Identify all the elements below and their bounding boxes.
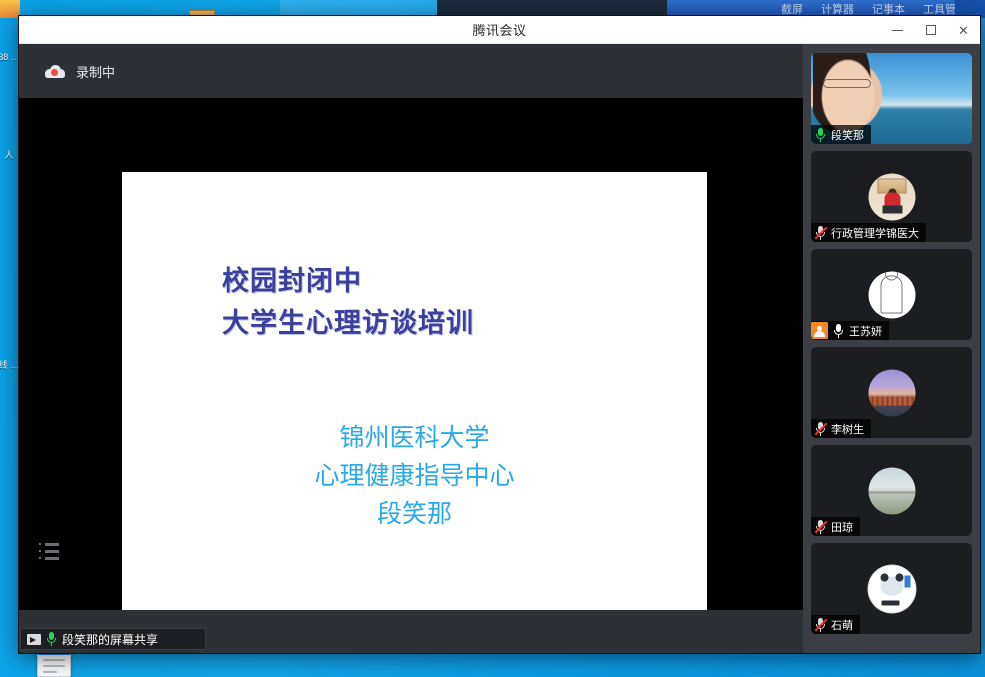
participant-tile-1[interactable]: 段笑那 [811, 53, 972, 144]
screen-share-status-bar[interactable]: 段笑那的屏幕共享 [20, 628, 206, 650]
participant-tile-2[interactable]: 行政管理学锦医大 [811, 151, 972, 242]
participant-badge-3: 王苏妍 [811, 321, 889, 340]
participant-avatar-3 [868, 271, 915, 318]
participant-badge-6: 石萌 [811, 615, 860, 634]
slide-subtitle-line-1: 锦州医科大学 [122, 420, 707, 458]
bg-toolbar-item-notepad[interactable]: 记事本 [872, 1, 905, 17]
minimize-icon [892, 30, 903, 31]
maximize-button[interactable] [914, 16, 947, 44]
participant-tile-3[interactable]: 王苏妍 [811, 249, 972, 340]
participant-name-3: 王苏妍 [849, 323, 882, 339]
participant-avatar-4 [868, 369, 915, 416]
cloud-record-icon [45, 65, 65, 78]
participant-badge-1: 段笑那 [811, 125, 871, 144]
participant-tile-6[interactable]: 石萌 [811, 543, 972, 634]
presentation-slide: 校园封闭中 大学生心理访谈培训 锦州医科大学 心理健康指导中心 段笑那 [122, 172, 707, 610]
window-body: 录制中 校园封闭中 大学生心理访谈培训 锦州医科大学 心理健康指导中心 段笑那 [19, 44, 980, 653]
window-titlebar[interactable]: 腾讯会议 ✕ [19, 16, 980, 44]
recording-status-label: 录制中 [76, 62, 115, 81]
mic-muted-icon [815, 422, 826, 436]
participant-badge-5: 田琼 [811, 517, 860, 536]
mic-muted-icon [815, 520, 826, 534]
maximize-icon [926, 25, 936, 35]
host-badge-icon [811, 322, 828, 339]
minimize-button[interactable] [881, 16, 914, 44]
participant-name-1: 段笑那 [831, 127, 864, 143]
desktop-icon-1-glyph [0, 0, 20, 18]
slide-title-line-1: 校园封闭中 [222, 260, 642, 302]
screen-share-label: 段笑那的屏幕共享 [62, 631, 158, 648]
taskbar-doc-line [43, 659, 65, 661]
participant-name-6: 石萌 [831, 617, 853, 633]
taskbar-doc-line [43, 671, 57, 673]
participant-tile-5[interactable]: 田琼 [811, 445, 972, 536]
meeting-window: 腾讯会议 ✕ 录制中 校园封闭中 [19, 16, 980, 653]
participant-name-4: 李树生 [831, 421, 864, 437]
mic-on-icon [833, 324, 844, 338]
participant-avatar-6 [868, 565, 915, 612]
taskbar-doc-line [43, 665, 65, 667]
slide-subtitle-line-3: 段笑那 [122, 496, 707, 534]
bg-toolbar-item-calculator[interactable]: 计算器 [821, 1, 854, 17]
slide-title: 校园封闭中 大学生心理访谈培训 [222, 260, 642, 344]
participant-avatar-5 [868, 467, 915, 514]
mic-muted-icon [815, 618, 826, 632]
participant-name-5: 田琼 [831, 519, 853, 535]
shared-screen-stage[interactable]: 校园封闭中 大学生心理访谈培训 锦州医科大学 心理健康指导中心 段笑那 [19, 98, 803, 610]
taskbar-document-window[interactable] [37, 651, 71, 677]
participants-panel[interactable]: 段笑那 行政管理学锦医大 [803, 44, 980, 653]
list-icon[interactable] [35, 538, 63, 564]
screen-share-icon [27, 634, 41, 645]
participant-tile-4[interactable]: 李树生 [811, 347, 972, 438]
slide-subtitle: 锦州医科大学 心理健康指导中心 段笑那 [122, 420, 707, 534]
mic-on-icon [46, 632, 57, 646]
slide-title-line-2: 大学生心理访谈培训 [222, 302, 642, 344]
participant-avatar-2 [868, 173, 915, 220]
slide-subtitle-line-2: 心理健康指导中心 [122, 458, 707, 496]
close-button[interactable]: ✕ [947, 16, 980, 44]
participant-badge-2: 行政管理学锦医大 [811, 223, 926, 242]
bg-toolbar-item-screenshot[interactable]: 截屏 [781, 1, 803, 17]
share-header-bar: 录制中 [19, 44, 803, 98]
participant-name-2: 行政管理学锦医大 [831, 225, 919, 241]
mic-muted-icon [815, 226, 826, 240]
window-controls: ✕ [881, 16, 980, 44]
window-title: 腾讯会议 [472, 20, 526, 39]
participant-badge-4: 李树生 [811, 419, 871, 438]
mic-on-icon [815, 128, 826, 142]
close-icon: ✕ [958, 24, 969, 37]
